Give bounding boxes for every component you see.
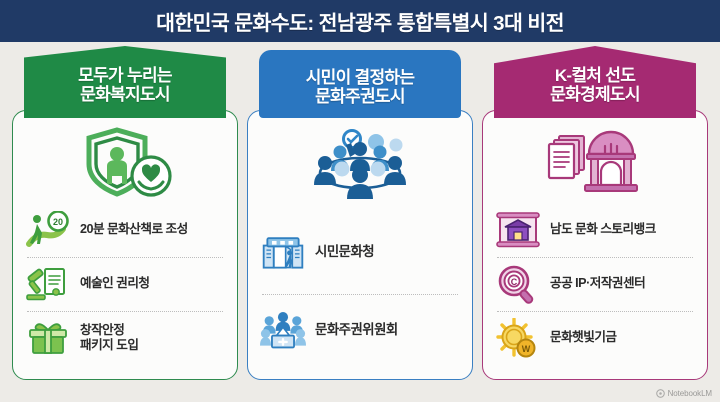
roundtable-discussion-icon xyxy=(304,125,416,201)
civic-building-icon xyxy=(260,232,306,272)
banner-line-2: 문화경제도시 xyxy=(550,85,640,104)
list-item-label: 남도 문화 스토리뱅크 xyxy=(550,222,656,237)
banner-line-1: K-컬처 선도 xyxy=(555,66,635,85)
documents-pavilion-icon xyxy=(543,126,647,200)
list-item[interactable]: 창작안정 패키지 도입 xyxy=(23,311,227,365)
column-card-green: 20 20분 문화산책로 조성 xyxy=(12,110,238,380)
list-item-label: 문화주권위원회 xyxy=(315,322,398,338)
list-item-label: 시민문화청 xyxy=(315,244,374,260)
banner-line-2: 문화주권도시 xyxy=(315,87,405,106)
list-item[interactable]: 문화주권위원회 xyxy=(258,294,462,366)
vision-columns: 모두가 누리는 문화복지도시 xyxy=(0,46,720,386)
list-item[interactable]: 20 20분 문화산책로 조성 xyxy=(23,203,227,257)
page-title: 대한민국 문화수도: 전남광주 통합특별시 3대 비전 xyxy=(156,6,564,36)
watermark: NotebookLM xyxy=(656,389,712,398)
gift-box-icon xyxy=(25,318,71,358)
hero-illustration-green xyxy=(13,111,237,203)
item-list-magenta: 남도 문화 스토리뱅크 C 공공 IP·저작권센터 xyxy=(483,203,707,379)
svg-text:W: W xyxy=(522,344,531,354)
item-list-blue: 시민문화청 xyxy=(248,203,472,379)
shield-person-heart-icon xyxy=(77,126,173,200)
walking-clock-path-icon: 20 xyxy=(25,210,71,250)
list-item-label: 문화햇빛기금 xyxy=(550,330,617,345)
svg-text:20: 20 xyxy=(53,217,63,227)
column-banner-green: 모두가 누리는 문화복지도시 xyxy=(24,46,226,118)
sun-coin-won-icon: W xyxy=(495,318,541,358)
notebooklm-logo-icon xyxy=(656,389,665,398)
vision-column-culture-sovereignty-city: 시민이 결정하는 문화주권도시 xyxy=(247,46,473,380)
column-banner-blue: 시민이 결정하는 문화주권도시 xyxy=(259,50,461,118)
column-card-magenta: 남도 문화 스토리뱅크 C 공공 IP·저작권센터 xyxy=(482,110,708,380)
banner-line-1: 시민이 결정하는 xyxy=(306,68,415,87)
list-item[interactable]: C 공공 IP·저작권센터 xyxy=(493,257,697,311)
column-banner-magenta: K-컬처 선도 문화경제도시 xyxy=(494,46,696,118)
infographic-poster: 대한민국 문화수도: 전남광주 통합특별시 3대 비전 모두가 누리는 문화복지… xyxy=(0,0,720,402)
header-bar: 대한민국 문화수도: 전남광주 통합특별시 3대 비전 xyxy=(0,0,720,42)
svg-text:C: C xyxy=(511,277,518,287)
list-item[interactable]: 예술인 권리청 xyxy=(23,257,227,311)
watermark-label: NotebookLM xyxy=(668,389,712,398)
gavel-document-icon xyxy=(25,264,71,304)
item-list-green: 20 20분 문화산책로 조성 xyxy=(13,203,237,379)
banner-line-2: 문화복지도시 xyxy=(80,85,170,104)
magnifier-copyright-icon: C xyxy=(495,264,541,304)
list-item[interactable]: W 문화햇빛기금 xyxy=(493,311,697,365)
hero-illustration-magenta xyxy=(483,111,707,203)
column-card-blue: 시민문화청 xyxy=(247,110,473,380)
banner-line-1: 모두가 누리는 xyxy=(78,66,172,85)
list-item[interactable]: 시민문화청 xyxy=(258,216,462,288)
list-item-label: 공공 IP·저작권센터 xyxy=(550,276,645,291)
list-item-label: 창작안정 패키지 도입 xyxy=(80,323,138,353)
list-item[interactable]: 남도 문화 스토리뱅크 xyxy=(493,203,697,257)
ballot-box-people-icon xyxy=(260,310,306,350)
list-item-label: 예술인 권리청 xyxy=(80,276,150,291)
vision-column-culture-economy-city: K-컬처 선도 문화경제도시 xyxy=(482,46,708,380)
vision-column-culture-welfare-city: 모두가 누리는 문화복지도시 xyxy=(12,46,238,380)
scroll-hanok-icon xyxy=(495,210,541,250)
list-item-label: 20분 문화산책로 조성 xyxy=(80,222,188,237)
hero-illustration-blue xyxy=(248,111,472,203)
